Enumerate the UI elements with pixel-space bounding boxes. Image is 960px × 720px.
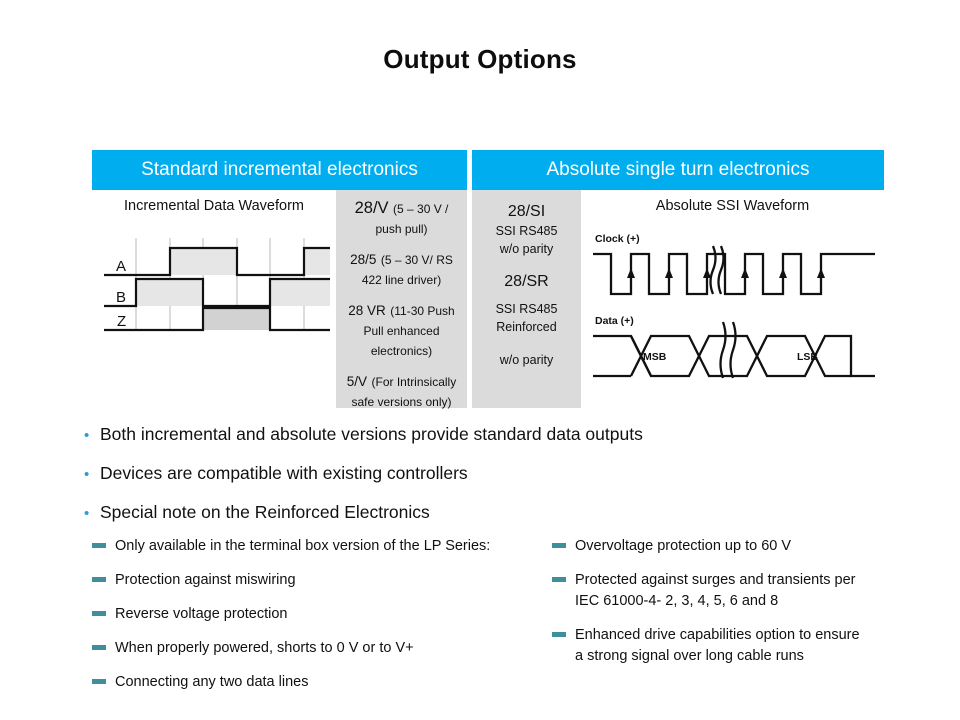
sub-bullet-text-left-4: When properly powered, shorts to 0 V or … — [115, 638, 542, 659]
spec-28sr-line-4: w/o parity — [476, 351, 577, 369]
bullet-dot-icon: • — [84, 428, 100, 443]
spec-5v-code: 5/V — [347, 374, 367, 389]
spec-28si-line-2: w/o parity — [476, 240, 577, 258]
spec-5v-desc: (For Intrinsically safe versions only) — [351, 375, 456, 409]
sub-bullet-item-left-4: When properly powered, shorts to 0 V or … — [92, 638, 542, 659]
sub-bullet-list-left: Only available in the terminal box versi… — [92, 536, 542, 706]
main-bullet-item-2: • Devices are compatible with existing c… — [84, 463, 884, 484]
main-bullet-text-3: Special note on the Reinforced Electroni… — [100, 502, 430, 523]
sub-bullet-text-right-3b: a strong signal over long cable runs — [575, 646, 952, 667]
signal-label-a: A — [116, 258, 126, 275]
spec-28vr: 28 VR (11-30 Push Pull enhanced electron… — [336, 301, 467, 361]
sub-bullet-item-left-1: Only available in the terminal box versi… — [92, 536, 542, 557]
absolute-ssi-waveform-diagram: Clock (+) Data (+) — [589, 218, 879, 388]
spec-28sr-line-1: SSI RS485 — [476, 300, 577, 318]
clock-trace — [593, 254, 875, 294]
incremental-data-waveform-diagram: A B Z — [98, 234, 330, 342]
sub-bullet-text-left-5: Connecting any two data lines — [115, 672, 542, 693]
main-bullet-item-3: • Special note on the Reinforced Electro… — [84, 502, 884, 523]
sub-bullet-text-left-1: Only available in the terminal box versi… — [115, 536, 542, 557]
sub-bullet-item-left-2: Protection against miswiring — [92, 570, 542, 591]
main-bullet-text-2: Devices are compatible with existing con… — [100, 463, 468, 484]
sub-bullet-text-right-2: Protected against surges and transients … — [575, 570, 952, 591]
bullet-square-icon — [552, 577, 566, 582]
signal-label-z: Z — [117, 313, 126, 330]
sub-bullet-item-right-3: Enhanced drive capabilities option to en… — [552, 625, 952, 667]
spec-28v-code: 28/V — [355, 199, 389, 217]
incremental-waveform-caption: Incremental Data Waveform — [92, 190, 336, 214]
bullet-square-icon — [92, 679, 106, 684]
spec-28vr-code: 28 VR — [348, 303, 386, 318]
spec-285-desc: (5 – 30 V/ RS 422 line driver) — [362, 253, 453, 287]
sub-bullet-text-left-3: Reverse voltage protection — [115, 604, 542, 625]
bullet-square-icon — [552, 543, 566, 548]
sub-bullet-item-right-2: Protected against surges and transients … — [552, 570, 952, 612]
bullet-square-icon — [92, 611, 106, 616]
spec-28sr: 28/SR SSI RS485 Reinforced w/o parity — [472, 272, 581, 368]
sub-bullet-text-left-2: Protection against miswiring — [115, 570, 542, 591]
clock-signal-label: Clock (+) — [595, 233, 640, 245]
table-header-standard-incremental: Standard incremental electronics — [92, 150, 467, 190]
bullet-square-icon — [92, 577, 106, 582]
sub-bullet-item-right-1: Overvoltage protection up to 60 V — [552, 536, 952, 557]
table-body-row: Incremental Data Waveform — [92, 190, 884, 408]
lsb-label: LSB — [797, 351, 818, 363]
data-signal-label: Data (+) — [595, 315, 634, 327]
sub-bullet-text-right-1: Overvoltage protection up to 60 V — [575, 536, 952, 557]
cell-ssi-waveform: Absolute SSI Waveform Clock (+) — [581, 190, 884, 408]
spec-285: 28/5 (5 – 30 V/ RS 422 line driver) — [336, 250, 467, 290]
spec-28si-code: 28/SI — [476, 202, 577, 222]
bullet-dot-icon: • — [84, 467, 100, 482]
data-break-squiggle — [721, 322, 736, 378]
bullet-square-icon — [92, 543, 106, 548]
main-bullet-list: • Both incremental and absolute versions… — [84, 424, 884, 541]
ssi-waveform-caption: Absolute SSI Waveform — [581, 190, 884, 214]
spec-5v: 5/V (For Intrinsically safe versions onl… — [336, 372, 467, 412]
sub-bullet-item-left-3: Reverse voltage protection — [92, 604, 542, 625]
table-header-row: Standard incremental electronics Absolut… — [92, 150, 884, 190]
signal-label-b: B — [116, 289, 126, 306]
spec-28sr-code: 28/SR — [476, 272, 577, 292]
page-title: Output Options — [0, 44, 960, 75]
cell-absolute-specs: 28/SI SSI RS485 w/o parity 28/SR SSI RS4… — [472, 190, 581, 408]
table-header-absolute-single-turn: Absolute single turn electronics — [472, 150, 884, 190]
output-options-table: Standard incremental electronics Absolut… — [92, 150, 884, 408]
bullet-square-icon — [552, 632, 566, 637]
spec-28sr-line-2: Reinforced — [476, 318, 577, 336]
main-bullet-text-1: Both incremental and absolute versions p… — [100, 424, 643, 445]
sub-bullet-text-right-3: Enhanced drive capabilities option to en… — [575, 625, 952, 646]
bullet-dot-icon: • — [84, 506, 100, 521]
sub-bullet-text-right-2b: IEC 61000-4- 2, 3, 4, 5, 6 and 8 — [575, 591, 952, 612]
spec-28v: 28/V (5 – 30 V / push pull) — [336, 198, 467, 239]
sub-bullet-list-right: Overvoltage protection up to 60 V Protec… — [552, 536, 952, 680]
spec-28si-line-1: SSI RS485 — [476, 222, 577, 240]
sub-bullet-item-left-5: Connecting any two data lines — [92, 672, 542, 693]
bullet-square-icon — [92, 645, 106, 650]
spec-28si: 28/SI SSI RS485 w/o parity — [472, 202, 581, 258]
cell-incremental-waveform: Incremental Data Waveform — [92, 190, 336, 408]
main-bullet-item-1: • Both incremental and absolute versions… — [84, 424, 884, 445]
msb-label: MSB — [643, 351, 667, 363]
spec-285-code: 28/5 — [350, 252, 376, 267]
cell-incremental-specs: 28/V (5 – 30 V / push pull) 28/5 (5 – 30… — [336, 190, 467, 408]
